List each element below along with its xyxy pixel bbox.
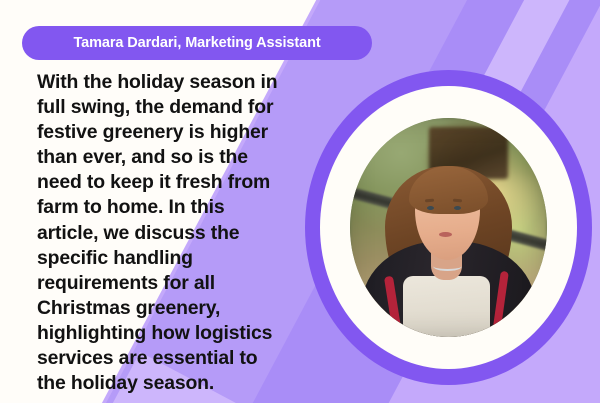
avatar (350, 118, 547, 337)
page-title: Holiday Freight & Festivities (34, 0, 434, 2)
portrait-inner-ring (320, 86, 577, 369)
portrait-outer-ring (305, 70, 592, 385)
slide-canvas: Holiday Freight & Festivities Tamara Dar… (0, 0, 600, 403)
photo-vignette (350, 118, 547, 337)
article-body-text: With the holiday season in full swing, t… (37, 70, 289, 396)
author-byline-label: Tamara Dardari, Marketing Assistant (73, 35, 320, 51)
portrait-medallion (305, 70, 592, 385)
author-byline-pill: Tamara Dardari, Marketing Assistant (22, 26, 372, 60)
